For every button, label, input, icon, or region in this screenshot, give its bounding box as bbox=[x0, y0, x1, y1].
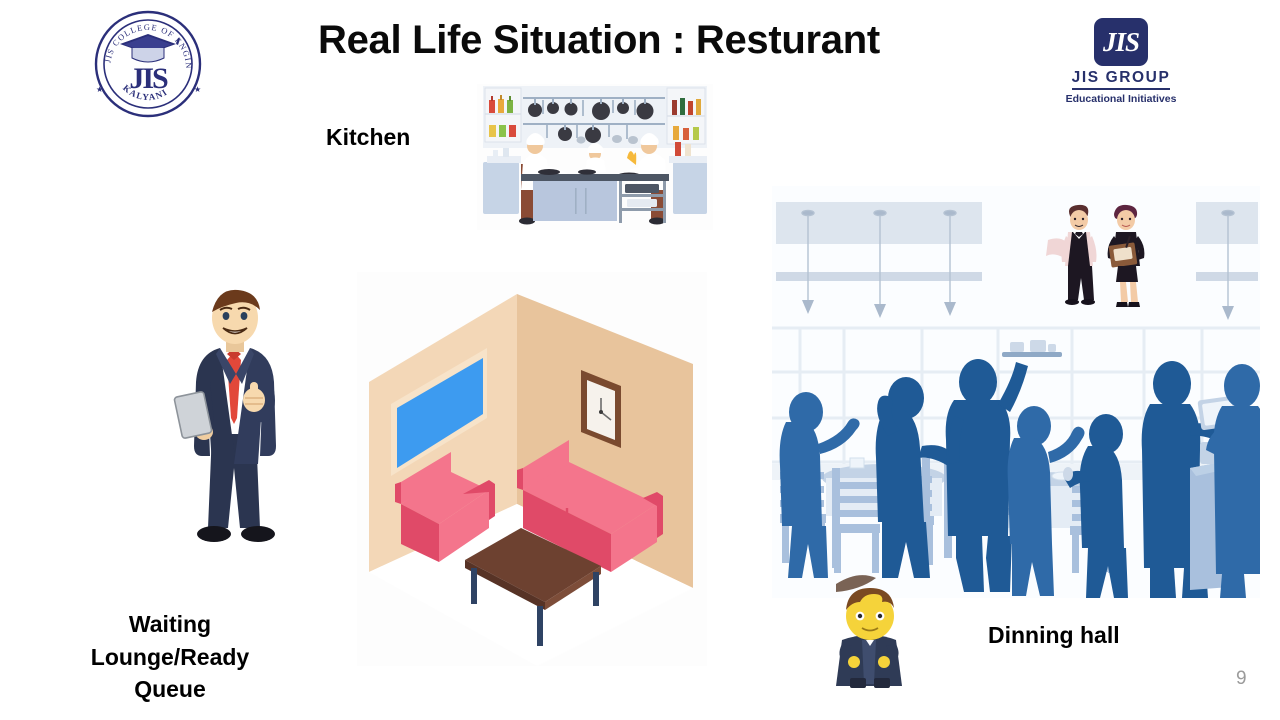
svg-text:JIS: JIS bbox=[129, 62, 168, 95]
svg-text:★: ★ bbox=[194, 85, 201, 94]
label-dinning-hall: Dinning hall bbox=[988, 622, 1120, 649]
svg-text:★: ★ bbox=[96, 85, 103, 94]
label-waiting-lounge: Waiting Lounge/Ready Queue bbox=[60, 608, 280, 706]
jis-group-title: JIS GROUP bbox=[1072, 69, 1171, 90]
label-waiting-line-3: Queue bbox=[60, 673, 280, 706]
jis-group-logo: JIS JIS GROUP Educational Initiatives bbox=[1055, 18, 1187, 110]
cartoon-customer-illustration bbox=[822, 582, 918, 690]
page-number: 9 bbox=[1236, 668, 1247, 690]
dining-hall-illustration bbox=[772, 186, 1260, 598]
label-waiting-line-2: Lounge/Ready bbox=[60, 641, 280, 674]
label-kitchen: Kitchen bbox=[326, 124, 410, 151]
slide-canvas: JIS COLLEGE OF ENGINEERING KALYANI JIS ★… bbox=[0, 0, 1280, 720]
page-title: Real Life Situation : Resturant bbox=[318, 18, 1018, 62]
waiting-lounge-illustration bbox=[357, 272, 707, 666]
jis-group-badge-icon: JIS bbox=[1094, 18, 1148, 66]
label-waiting-line-1: Waiting bbox=[60, 608, 280, 641]
waiter-and-waitress-illustration bbox=[1022, 192, 1172, 316]
businessman-with-tablet-illustration bbox=[168, 282, 300, 566]
kitchen-illustration bbox=[477, 84, 713, 230]
jis-group-badge-text: JIS bbox=[1103, 29, 1139, 56]
jis-group-subtitle: Educational Initiatives bbox=[1066, 93, 1177, 105]
jis-college-seal: JIS COLLEGE OF ENGINEERING KALYANI JIS ★… bbox=[78, 6, 218, 126]
